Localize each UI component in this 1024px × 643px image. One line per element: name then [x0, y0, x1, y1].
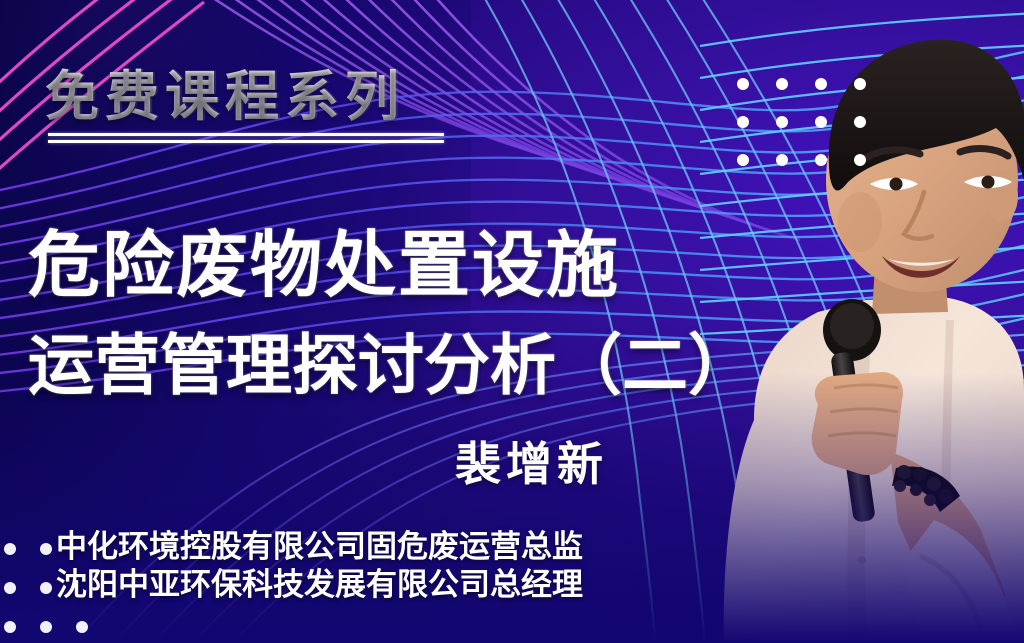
double-rule-divider: [48, 133, 444, 147]
credential-line: 中化环境控股有限公司固危废运营总监: [56, 528, 583, 566]
title-line-2: 运营管理探讨分析（二）: [28, 312, 754, 408]
speaker-name: 裴增新: [455, 428, 608, 494]
kicker-label: 免费课程系列: [45, 52, 405, 131]
rule-top: [48, 133, 444, 136]
course-poster: 免费课程系列 危险废物处置设施 运营管理探讨分析（二） 裴增新 中化环境控股有限…: [0, 0, 1024, 643]
rule-bottom: [48, 140, 444, 143]
speaker-credentials: 中化环境控股有限公司固危废运营总监 沈阳中亚环保科技发展有限公司总经理: [56, 528, 583, 604]
poster-text-content: 免费课程系列 危险废物处置设施 运营管理探讨分析（二） 裴增新 中化环境控股有限…: [0, 0, 1024, 643]
credential-line: 沈阳中亚环保科技发展有限公司总经理: [56, 566, 583, 604]
title-line-1: 危险废物处置设施: [28, 206, 620, 311]
